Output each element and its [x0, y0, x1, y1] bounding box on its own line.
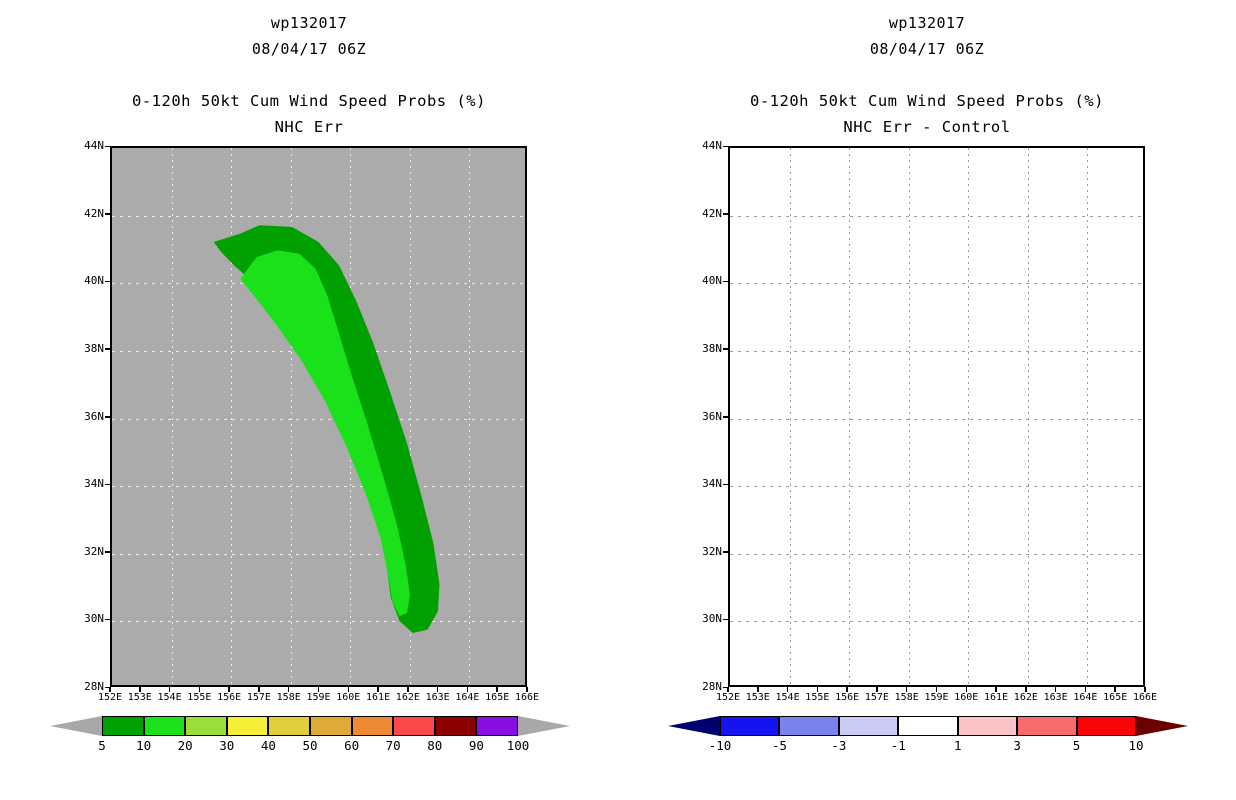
- x-axis-tick-mark: [288, 687, 290, 692]
- gridline-horizontal: [730, 216, 1143, 217]
- panel-left-product-title: 0-120h 50kt Cum Wind Speed Probs (%): [0, 92, 618, 110]
- x-axis-tick-mark: [258, 687, 260, 692]
- x-axis-tick-label: 156E: [217, 692, 241, 703]
- colorbar-segment: [393, 716, 435, 736]
- x-axis-tick-label: 158E: [895, 692, 919, 703]
- colorbar-tick-label: 100: [507, 738, 530, 753]
- gridline-vertical: [909, 148, 910, 685]
- y-axis-tick-mark: [723, 281, 729, 283]
- colorbar-tick-label: 3: [1013, 738, 1021, 753]
- x-axis-tick-mark: [109, 687, 111, 692]
- y-axis-tick-label: 28N: [662, 680, 722, 693]
- y-axis-tick-mark: [105, 551, 111, 553]
- x-axis-tick-label: 154E: [776, 692, 800, 703]
- y-axis-tick-label: 32N: [662, 545, 722, 558]
- x-axis-tick-label: 161E: [984, 692, 1008, 703]
- x-axis-tick-label: 162E: [396, 692, 420, 703]
- x-axis-tick-label: 166E: [1133, 692, 1157, 703]
- x-axis-tick-label: 152E: [98, 692, 122, 703]
- colorbar-segment: [779, 716, 838, 736]
- panel-right-datetime: 08/04/17 06Z: [618, 40, 1236, 58]
- colorbar-segment: [720, 716, 779, 736]
- gridline-horizontal: [730, 419, 1143, 420]
- x-axis-tick-label: 157E: [865, 692, 889, 703]
- x-axis-tick-mark: [437, 687, 439, 692]
- x-axis-tick-mark: [228, 687, 230, 692]
- y-axis-tick-mark: [105, 484, 111, 486]
- colorbar-segment: [1017, 716, 1076, 736]
- x-axis-tick-mark: [377, 687, 379, 692]
- colorbar-segment: [435, 716, 477, 736]
- y-axis-tick-mark: [105, 348, 111, 350]
- y-axis-tick-mark: [723, 213, 729, 215]
- gridline-horizontal: [730, 486, 1143, 487]
- x-axis-tick-label: 157E: [247, 692, 271, 703]
- x-axis-tick-mark: [1055, 687, 1057, 692]
- wind-probability-contours: [112, 148, 525, 685]
- colorbar-segment: [839, 716, 898, 736]
- gridline-horizontal: [730, 283, 1143, 284]
- gridline-horizontal: [730, 621, 1143, 622]
- y-axis-tick-label: 42N: [662, 207, 722, 220]
- colorbar-tick-label: 50: [302, 738, 317, 753]
- x-axis-tick-label: 155E: [187, 692, 211, 703]
- panel-right-product-title: 0-120h 50kt Cum Wind Speed Probs (%): [618, 92, 1236, 110]
- x-axis-tick-mark: [1025, 687, 1027, 692]
- colorbar-tick-label: 5: [98, 738, 106, 753]
- y-axis-tick-label: 44N: [662, 139, 722, 152]
- colorbar-arrow-low: [50, 716, 102, 736]
- colorbar-probability: 5102030405060708090100: [50, 716, 570, 736]
- x-axis-tick-mark: [467, 687, 469, 692]
- y-axis-tick-label: 40N: [662, 274, 722, 287]
- y-axis-tick-mark: [105, 213, 111, 215]
- x-axis-tick-mark: [318, 687, 320, 692]
- panel-left-datetime: 08/04/17 06Z: [0, 40, 618, 58]
- y-axis-tick-label: 28N: [44, 680, 104, 693]
- gridline-vertical: [968, 148, 969, 685]
- y-axis-tick-label: 36N: [662, 410, 722, 423]
- colorbar-tick-label: 30: [219, 738, 234, 753]
- y-axis-tick-label: 38N: [662, 342, 722, 355]
- colorbar-segment: [227, 716, 269, 736]
- x-axis-tick-mark: [526, 687, 528, 692]
- x-axis-tick-mark: [1144, 687, 1146, 692]
- x-axis-tick-label: 163E: [426, 692, 450, 703]
- y-axis-tick-label: 36N: [44, 410, 104, 423]
- x-axis-tick-mark: [906, 687, 908, 692]
- colorbar-tick-label: -3: [831, 738, 846, 753]
- x-axis-tick-mark: [936, 687, 938, 692]
- x-axis-tick-label: 160E: [336, 692, 360, 703]
- y-axis-tick-mark: [723, 551, 729, 553]
- x-axis-tick-label: 164E: [1073, 692, 1097, 703]
- colorbar-tick-label: 60: [344, 738, 359, 753]
- colorbar-arrow-low: [668, 716, 720, 736]
- y-axis-tick-label: 34N: [662, 477, 722, 490]
- x-axis-tick-label: 166E: [515, 692, 539, 703]
- colorbar-segment: [310, 716, 352, 736]
- x-axis-tick-label: 159E: [924, 692, 948, 703]
- y-axis-tick-mark: [105, 619, 111, 621]
- gridline-vertical: [1028, 148, 1029, 685]
- x-axis-tick-mark: [846, 687, 848, 692]
- x-axis-tick-label: 159E: [306, 692, 330, 703]
- y-axis-tick-label: 44N: [44, 139, 104, 152]
- colorbar-tick-label: 90: [469, 738, 484, 753]
- colorbar-tick-label: 10: [1128, 738, 1143, 753]
- gridline-vertical: [849, 148, 850, 685]
- x-axis-tick-mark: [966, 687, 968, 692]
- y-axis-tick-label: 30N: [662, 612, 722, 625]
- colorbar-segment: [476, 716, 518, 736]
- colorbar-tick-label: 40: [261, 738, 276, 753]
- x-axis-tick-label: 161E: [366, 692, 390, 703]
- x-axis-tick-label: 153E: [746, 692, 770, 703]
- y-axis-tick-mark: [105, 416, 111, 418]
- colorbar-tick-label: 70: [386, 738, 401, 753]
- colorbar-tick-label: 20: [178, 738, 193, 753]
- x-axis-tick-label: 154E: [158, 692, 182, 703]
- y-axis-tick-label: 34N: [44, 477, 104, 490]
- colorbar-tick-label: -5: [772, 738, 787, 753]
- colorbar-arrow-high: [518, 716, 570, 736]
- x-axis-tick-label: 155E: [805, 692, 829, 703]
- y-axis-tick-mark: [723, 416, 729, 418]
- x-axis-tick-mark: [1085, 687, 1087, 692]
- x-axis-tick-mark: [496, 687, 498, 692]
- x-axis-tick-label: 164E: [455, 692, 479, 703]
- colorbar-arrow-high: [1136, 716, 1188, 736]
- map-plot-right: [728, 146, 1145, 687]
- x-axis-tick-mark: [348, 687, 350, 692]
- gridline-horizontal: [730, 351, 1143, 352]
- x-axis-tick-mark: [727, 687, 729, 692]
- x-axis-tick-label: 152E: [716, 692, 740, 703]
- y-axis-tick-label: 38N: [44, 342, 104, 355]
- x-axis-tick-mark: [169, 687, 171, 692]
- colorbar-segment: [185, 716, 227, 736]
- x-axis-tick-label: 160E: [954, 692, 978, 703]
- x-axis-tick-label: 165E: [1103, 692, 1127, 703]
- y-axis-tick-mark: [723, 348, 729, 350]
- panel-right-storm-id: wp132017: [618, 14, 1236, 32]
- x-axis-tick-mark: [407, 687, 409, 692]
- x-axis-tick-mark: [1114, 687, 1116, 692]
- panel-left-subtitle: NHC Err: [0, 118, 618, 136]
- colorbar-segment: [1077, 716, 1136, 736]
- x-axis-tick-label: 162E: [1014, 692, 1038, 703]
- x-axis-tick-mark: [139, 687, 141, 692]
- gridline-vertical: [790, 148, 791, 685]
- x-axis-tick-mark: [876, 687, 878, 692]
- x-axis-tick-mark: [817, 687, 819, 692]
- gridline-vertical: [1087, 148, 1088, 685]
- colorbar-segment: [102, 716, 144, 736]
- x-axis-tick-mark: [757, 687, 759, 692]
- panel-right-subtitle: NHC Err - Control: [618, 118, 1236, 136]
- x-axis-tick-mark: [787, 687, 789, 692]
- x-axis-tick-mark: [995, 687, 997, 692]
- map-plot-left: [110, 146, 527, 687]
- colorbar-difference: -10-5-3-113510: [668, 716, 1188, 736]
- colorbar-tick-label: 5: [1073, 738, 1081, 753]
- y-axis-tick-mark: [723, 484, 729, 486]
- colorbar-tick-label: 80: [427, 738, 442, 753]
- x-axis-tick-label: 165E: [485, 692, 509, 703]
- x-axis-tick-mark: [199, 687, 201, 692]
- colorbar-segment: [958, 716, 1017, 736]
- x-axis-tick-label: 163E: [1044, 692, 1068, 703]
- colorbar-segment: [268, 716, 310, 736]
- colorbar-segment: [144, 716, 186, 736]
- colorbar-segment: [898, 716, 957, 736]
- colorbar-tick-label: -1: [891, 738, 906, 753]
- panel-left: wp132017 08/04/17 06Z 0-120h 50kt Cum Wi…: [0, 0, 618, 800]
- y-axis-tick-label: 42N: [44, 207, 104, 220]
- panel-left-storm-id: wp132017: [0, 14, 618, 32]
- y-axis-tick-mark: [723, 146, 729, 148]
- x-axis-tick-label: 158E: [277, 692, 301, 703]
- x-axis-tick-label: 153E: [128, 692, 152, 703]
- colorbar-tick-label: 1: [954, 738, 962, 753]
- map-gridlines-right: [730, 148, 1143, 685]
- y-axis-tick-mark: [723, 619, 729, 621]
- x-axis-tick-label: 156E: [835, 692, 859, 703]
- y-axis-tick-label: 40N: [44, 274, 104, 287]
- y-axis-tick-label: 30N: [44, 612, 104, 625]
- panel-right: wp132017 08/04/17 06Z 0-120h 50kt Cum Wi…: [618, 0, 1236, 800]
- y-axis-tick-mark: [105, 146, 111, 148]
- y-axis-tick-mark: [105, 281, 111, 283]
- colorbar-tick-label: -10: [709, 738, 732, 753]
- y-axis-tick-label: 32N: [44, 545, 104, 558]
- gridline-horizontal: [730, 554, 1143, 555]
- colorbar-tick-label: 10: [136, 738, 151, 753]
- colorbar-segment: [352, 716, 394, 736]
